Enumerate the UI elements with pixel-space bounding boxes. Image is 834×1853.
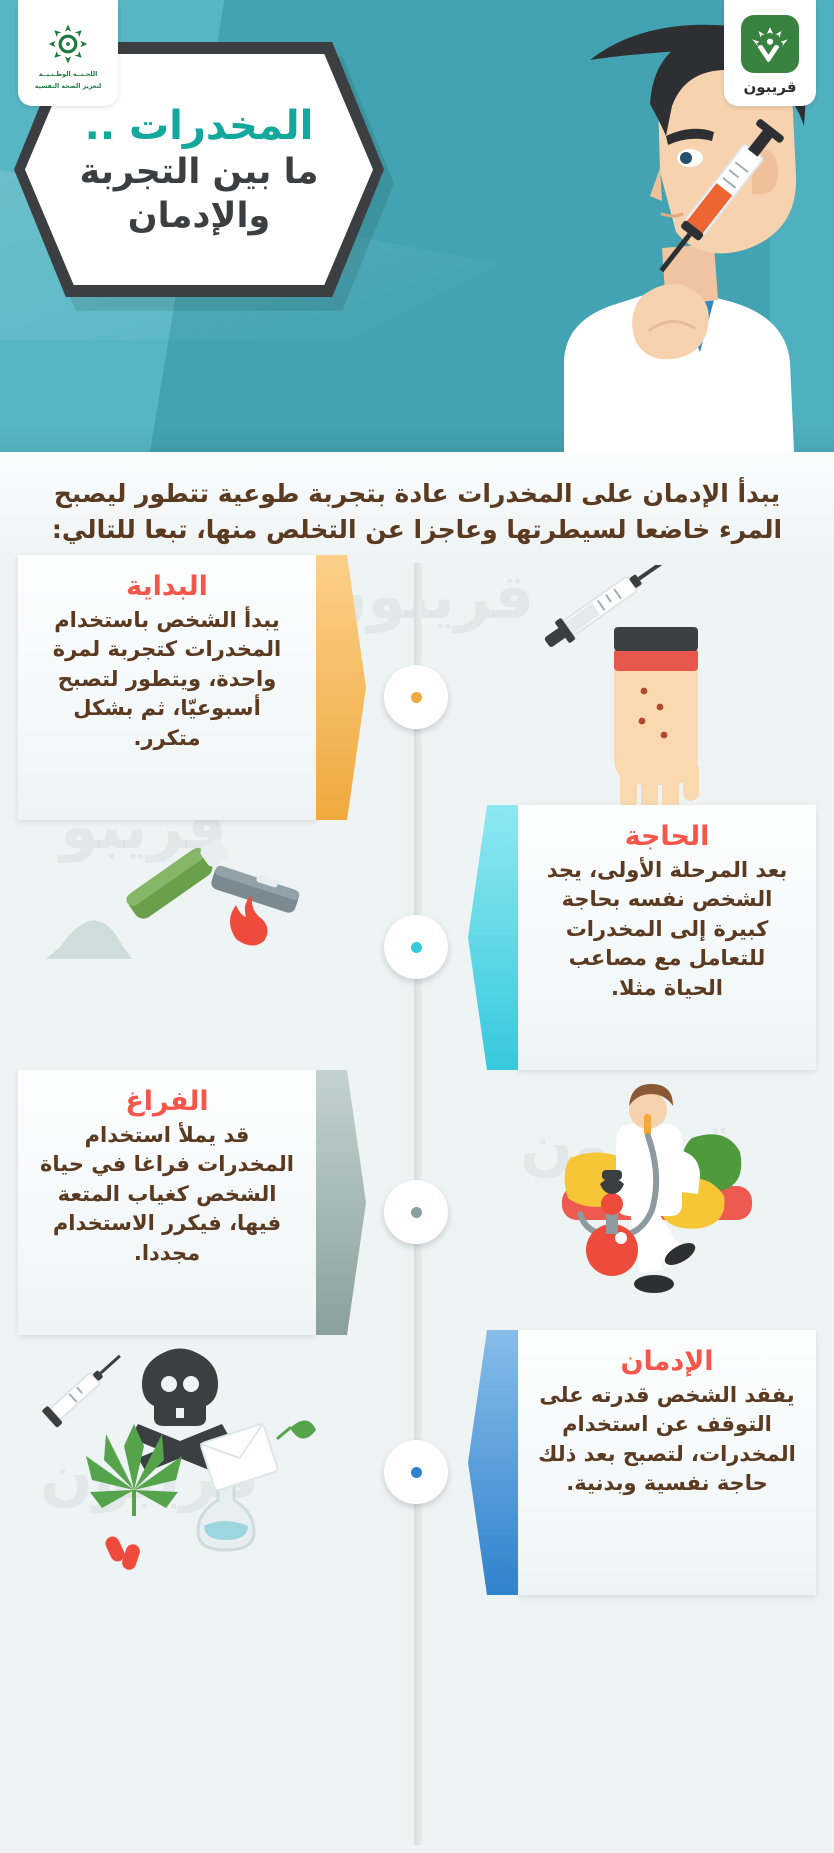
stage-1-body: يبدأ الشخص باستخدام المخدرات كتجربة لمرة… (38, 606, 296, 753)
national-committee-logo[interactable]: اللجـنــة الوطـنـيــة لتعزيز الصحة النفس… (18, 0, 118, 106)
drugs-paraphernalia-illustration (30, 1340, 330, 1590)
stage-3-title: الفراغ (38, 1086, 296, 1117)
qareeboon-logo[interactable]: قريبون (724, 0, 816, 106)
page-title-line3: والإدمان (128, 195, 270, 237)
qareeboon-label: قريبون (743, 78, 796, 96)
qareeboon-person-icon (747, 21, 793, 67)
stage-4-node[interactable] (384, 1440, 448, 1504)
intro-text: يبدأ الإدمان على المخدرات عادة بتجربة طو… (30, 476, 804, 547)
arm-with-syringe-illustration (504, 565, 804, 815)
stage-1-node-dot (411, 692, 422, 703)
stage-2-card[interactable]: الحاجة بعد المرحلة الأولى، يجد الشخص نفس… (518, 805, 816, 1070)
stage-1-arrow (316, 555, 366, 820)
committee-logo-line1: اللجـنــة الوطـنـيــة (39, 70, 98, 79)
committee-logo-line2: لتعزيز الصحة النفسية (35, 82, 102, 91)
stage-4-node-dot (411, 1467, 422, 1478)
stage-1-card[interactable]: البداية يبدأ الشخص باستخدام المخدرات كتج… (18, 555, 316, 820)
page-title-line1: المخدرات .. (85, 103, 314, 149)
stage-4-body: يفقد الشخص قدرته على التوقف عن استخدام ا… (538, 1381, 796, 1499)
stage-1: البداية يبدأ الشخص باستخدام المخدرات كتج… (0, 555, 834, 845)
stage-2-title: الحاجة (538, 821, 796, 852)
stage-3-arrow (316, 1070, 366, 1335)
man-smoking-shisha-illustration (504, 1080, 804, 1330)
stage-3-node-dot (411, 1207, 422, 1218)
stage-1-node[interactable] (384, 665, 448, 729)
qareeboon-badge-icon (741, 15, 799, 73)
stage-2-node[interactable] (384, 915, 448, 979)
infographic-page: المخدرات .. ما بين التجربة والإدمان (0, 0, 834, 1853)
stage-3-node[interactable] (384, 1180, 448, 1244)
committee-emblem-icon (45, 21, 91, 67)
header-banner: المخدرات .. ما بين التجربة والإدمان (0, 0, 834, 452)
page-title-line2: ما بين التجربة (80, 151, 319, 193)
powder-pipe-lighter-illustration (30, 815, 330, 1065)
stage-3-card[interactable]: الفراغ قد يملأ استخدام المخدرات فراغا في… (18, 1070, 316, 1335)
stage-1-title: البداية (38, 571, 296, 602)
stage-4: الإدمان يفقد الشخص قدرته على التوقف عن ا… (0, 1330, 834, 1620)
stage-4-card[interactable]: الإدمان يفقد الشخص قدرته على التوقف عن ا… (518, 1330, 816, 1595)
stage-3: الفراغ قد يملأ استخدام المخدرات فراغا في… (0, 1070, 834, 1360)
stage-4-arrow (468, 1330, 518, 1595)
stage-2-arrow (468, 805, 518, 1070)
stage-2-node-dot (411, 942, 422, 953)
intro-paragraph-block: يبدأ الإدمان على المخدرات عادة بتجربة طو… (0, 452, 834, 563)
stage-4-title: الإدمان (538, 1346, 796, 1377)
stage-2: الحاجة بعد المرحلة الأولى، يجد الشخص نفس… (0, 805, 834, 1095)
stage-2-body: بعد المرحلة الأولى، يجد الشخص نفسه بحاجة… (538, 856, 796, 1003)
stage-3-body: قد يملأ استخدام المخدرات فراغا في حياة ا… (38, 1121, 296, 1268)
